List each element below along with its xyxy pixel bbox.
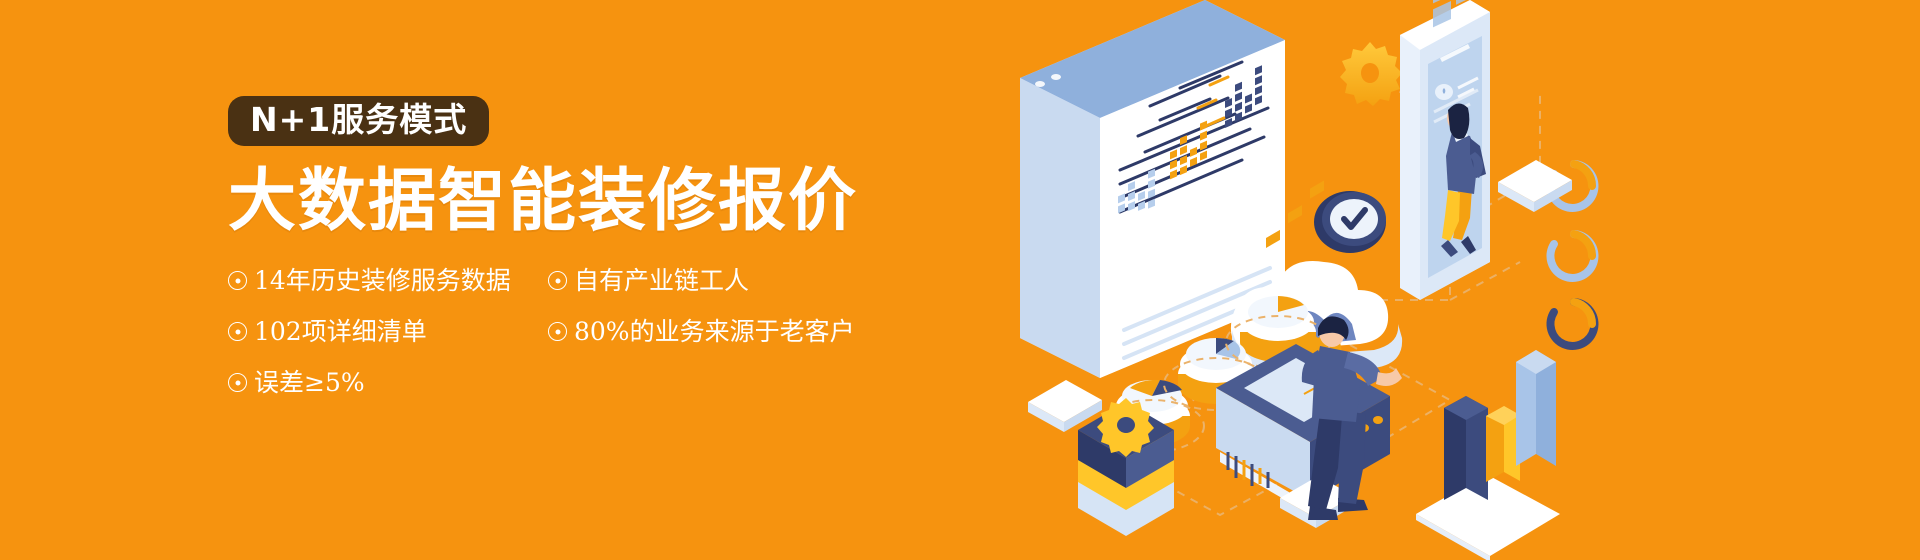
list-item-label: 自有产业链工人 <box>574 268 749 293</box>
service-model-badge: N+1服务模式 <box>228 96 489 146</box>
gear-yellow <box>1340 42 1402 106</box>
list-item: 自有产业链工人 <box>548 268 868 293</box>
page-title: 大数据智能装修报价 <box>228 166 988 238</box>
promo-banner: N+1服务模式 大数据智能装修报价 14年历史装修服务数据 自有产业链工人 10… <box>0 0 1920 560</box>
list-item: 102项详细清单 <box>228 319 548 344</box>
feature-bullet-list: 14年历史装修服务数据 自有产业链工人 102项详细清单 80%的业务来源于老客… <box>228 268 868 421</box>
circled-dot-icon <box>228 373 247 392</box>
list-item-label: 14年历史装修服务数据 <box>254 268 511 293</box>
isometric-big-data-illustration <box>1020 0 1640 560</box>
circled-dot-icon <box>228 271 247 290</box>
list-item-label: 误差≥5% <box>254 370 365 395</box>
banner-copy-block: N+1服务模式 大数据智能装修报价 14年历史装修服务数据 自有产业链工人 10… <box>228 96 988 421</box>
list-item: 80%的业务来源于老客户 <box>548 319 868 344</box>
bar-chart-3d <box>1416 350 1560 560</box>
circled-dot-icon <box>228 322 247 341</box>
list-item-label: 80%的业务来源于老客户 <box>574 319 855 344</box>
list-item-label: 102项详细清单 <box>254 319 427 344</box>
list-item: 14年历史装修服务数据 <box>228 268 548 293</box>
list-item: 误差≥5% <box>228 370 548 395</box>
check-badge <box>1314 191 1386 253</box>
circled-dot-icon <box>548 271 567 290</box>
circled-dot-icon <box>548 322 567 341</box>
